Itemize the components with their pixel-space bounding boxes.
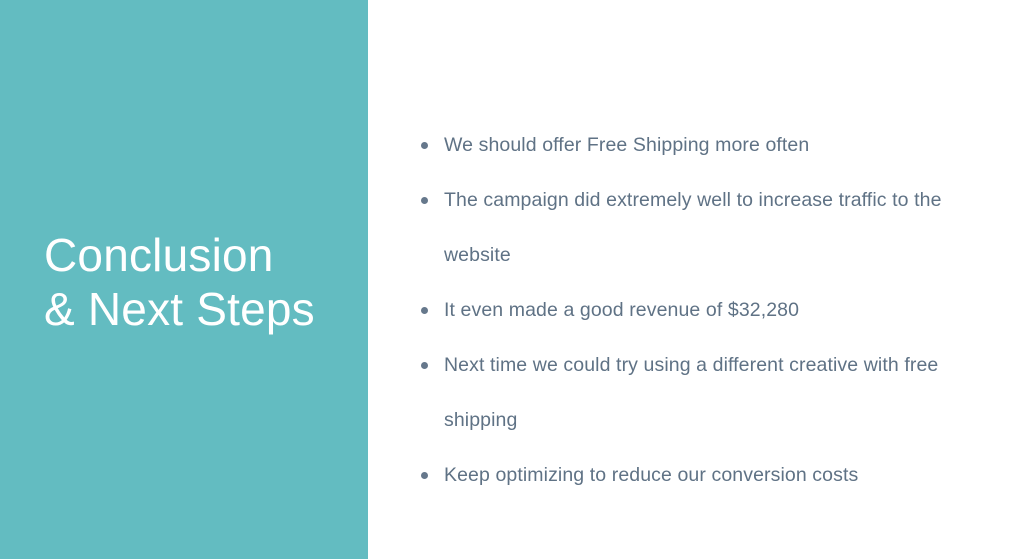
slide-title: Conclusion & Next Steps	[44, 228, 354, 336]
slide-title-line-2: & Next Steps	[44, 282, 354, 336]
bullet-list: We should offer Free Shipping more often…	[418, 118, 1006, 503]
list-item: Next time we could try using a different…	[418, 338, 1006, 448]
list-item: Keep optimizing to reduce our conversion…	[418, 448, 1006, 503]
list-item: The campaign did extremely well to incre…	[418, 173, 1006, 283]
list-item-label: Keep optimizing to reduce our conversion…	[444, 448, 1006, 503]
bullet-dot-icon	[421, 362, 428, 369]
list-item: It even made a good revenue of $32,280	[418, 283, 1006, 338]
list-item: We should offer Free Shipping more often	[418, 118, 1006, 173]
slide-content: We should offer Free Shipping more often…	[418, 118, 1006, 503]
title-panel: Conclusion & Next Steps	[0, 0, 368, 559]
list-item-label: It even made a good revenue of $32,280	[444, 283, 1006, 338]
slide-title-line-1: Conclusion	[44, 228, 354, 282]
bullet-dot-icon	[421, 472, 428, 479]
list-item-label: The campaign did extremely well to incre…	[444, 173, 1006, 283]
bullet-dot-icon	[421, 307, 428, 314]
list-item-label: We should offer Free Shipping more often	[444, 118, 1006, 173]
slide: Conclusion & Next Steps We should offer …	[0, 0, 1024, 559]
bullet-dot-icon	[421, 142, 428, 149]
list-item-label: Next time we could try using a different…	[444, 338, 1006, 448]
bullet-dot-icon	[421, 197, 428, 204]
